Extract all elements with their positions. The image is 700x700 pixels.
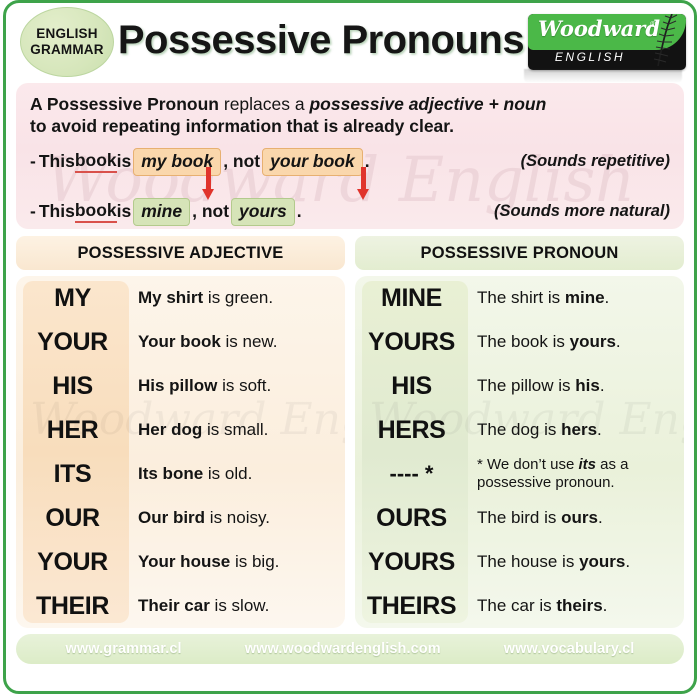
arrow-my-to-mine-icon: [202, 167, 214, 201]
fern-leaf-icon: [646, 14, 682, 68]
footer-link-vocabulary[interactable]: www.vocabulary.cl: [504, 641, 635, 657]
column-header-possessive-pronoun: POSSESSIVE PRONOUN: [355, 236, 684, 270]
column-header-possessive-adjective: POSSESSIVE ADJECTIVE: [16, 236, 345, 270]
sentence-bold: theirs: [556, 596, 602, 615]
table-row: HER Her dog is small.: [16, 408, 345, 452]
adjective-key: HER: [16, 416, 129, 445]
sentence-rest: .: [625, 552, 630, 571]
row1-dash: -: [30, 151, 36, 172]
adjective-rows: MY My shirt is green. YOUR Your book is …: [16, 276, 345, 628]
row1-underlined-noun: book: [75, 150, 117, 173]
table-row: ITS Its bone is old.: [16, 452, 345, 496]
sentence-bold: His pillow: [138, 376, 217, 395]
its-footnote: * We don’t use its as a possessive prono…: [468, 456, 684, 491]
row2-note: (Sounds more natural): [494, 202, 670, 221]
adjective-sentence: Their car is slow.: [129, 596, 345, 616]
tables-container: Woodward English MY My shirt is green. Y…: [16, 276, 684, 628]
example-row-pronoun: - This book is mine , not yours . (Sound…: [30, 198, 670, 226]
table-row: THEIRS The car is theirs.: [355, 584, 684, 628]
sentence-rest: is noisy.: [205, 508, 270, 527]
row2-between: , not: [192, 201, 229, 222]
sentence-lead: The pillow is: [477, 376, 575, 395]
row2-lead: This: [39, 201, 75, 222]
row2-chip-1: mine: [133, 198, 190, 226]
sentence-rest: .: [598, 508, 603, 527]
sentence-lead: The shirt is: [477, 288, 565, 307]
row2-chip-2: yours: [231, 198, 295, 226]
adjective-sentence: His pillow is soft.: [129, 376, 345, 396]
sentence-bold: Your book: [138, 332, 221, 351]
adjective-key: MY: [16, 284, 129, 313]
adjective-sentence: Her dog is small.: [129, 420, 345, 440]
logo-brand-text: Woodward: [538, 16, 660, 41]
sentence-rest: is small.: [202, 420, 268, 439]
table-row: YOURS The book is yours.: [355, 320, 684, 364]
footnote-its: its: [578, 456, 596, 473]
row2-dash: -: [30, 201, 36, 222]
sentence-bold: Our bird: [138, 508, 205, 527]
sentence-rest: .: [603, 596, 608, 615]
pronoun-sentence: The book is yours.: [468, 332, 684, 352]
adjective-sentence: My shirt is green.: [129, 288, 345, 308]
pronoun-sentence: The car is theirs.: [468, 596, 684, 616]
example-row-adjective: - This book is my book , not your book .…: [30, 148, 670, 176]
sentence-rest: is soft.: [217, 376, 271, 395]
pronoun-sentence: The bird is ours.: [468, 508, 684, 528]
sentence-rest: is old.: [203, 464, 252, 483]
row1-chip-2: your book: [262, 148, 363, 176]
sentence-bold: Her dog: [138, 420, 202, 439]
intro-part-a: A Possessive Pronoun: [30, 94, 219, 114]
table-row: OURS The bird is ours.: [355, 496, 684, 540]
badge-line-2: GRAMMAR: [30, 42, 103, 58]
table-row: YOUR Your book is new.: [16, 320, 345, 364]
pronoun-sentence: The shirt is mine.: [468, 288, 684, 308]
pronoun-key: OURS: [355, 504, 468, 533]
footnote-lead: * We don’t use: [477, 456, 578, 473]
intro-part-b: replaces a: [219, 94, 309, 114]
logo-sub-text: ENGLISH: [528, 50, 652, 64]
arrow-your-to-yours-icon: [357, 167, 369, 201]
sentence-lead: The book is: [477, 332, 570, 351]
intro-part-c: possessive adjective + noun: [309, 94, 546, 114]
page-title: Possessive Pronouns: [114, 18, 528, 67]
table-row: MINE The shirt is mine.: [355, 276, 684, 320]
adjective-sentence: Our bird is noisy.: [129, 508, 345, 528]
pronoun-sentence: The pillow is his.: [468, 376, 684, 396]
table-row: OUR Our bird is noisy.: [16, 496, 345, 540]
pronoun-key: YOURS: [355, 548, 468, 577]
sentence-rest: .: [597, 420, 602, 439]
sentence-bold: yours: [579, 552, 625, 571]
sentence-bold: Their car: [138, 596, 210, 615]
adjective-sentence: Your house is big.: [129, 552, 345, 572]
sentence-lead: The dog is: [477, 420, 561, 439]
adjective-key: YOUR: [16, 548, 129, 577]
adjective-sentence: Your book is new.: [129, 332, 345, 352]
sentence-bold: ours: [561, 508, 598, 527]
badge-line-1: ENGLISH: [36, 26, 97, 42]
sentence-rest: is slow.: [210, 596, 270, 615]
table-row: YOUR Your house is big.: [16, 540, 345, 584]
table-row: HIS The pillow is his.: [355, 364, 684, 408]
footer-link-woodwardenglish[interactable]: www.woodwardenglish.com: [245, 641, 441, 657]
possessive-pronoun-table: Woodward English MINE The shirt is mine.…: [355, 276, 684, 628]
sentence-bold: Your house: [138, 552, 230, 571]
pronoun-key: YOURS: [355, 328, 468, 357]
row1-lead: This: [39, 151, 75, 172]
pronoun-key: MINE: [355, 284, 468, 313]
sentence-lead: The bird is: [477, 508, 561, 527]
footer-link-grammar[interactable]: www.grammar.cl: [66, 641, 182, 657]
explanation-intro: A Possessive Pronoun replaces a possessi…: [30, 93, 670, 138]
column-headers: POSSESSIVE ADJECTIVE POSSESSIVE PRONOUN: [16, 236, 684, 270]
sentence-rest: is green.: [203, 288, 273, 307]
sentence-rest: .: [605, 288, 610, 307]
adjective-key: ITS: [16, 460, 129, 489]
sentence-bold: My shirt: [138, 288, 203, 307]
table-row-its-note: ---- * * We don’t use its as a possessiv…: [355, 452, 684, 496]
table-row: HIS His pillow is soft.: [16, 364, 345, 408]
english-grammar-badge: ENGLISH GRAMMAR: [20, 7, 114, 77]
row1-mid: is: [117, 151, 132, 172]
explanation-panel: Woodward English A Possessive Pronoun re…: [16, 83, 684, 229]
pronoun-key: HERS: [355, 416, 468, 445]
table-row: THEIR Their car is slow.: [16, 584, 345, 628]
woodward-english-logo: Woodward ® ENGLISH: [528, 14, 686, 70]
sentence-rest: .: [600, 376, 605, 395]
pronoun-key: THEIRS: [355, 592, 468, 621]
adjective-key: THEIR: [16, 592, 129, 621]
table-row: MY My shirt is green.: [16, 276, 345, 320]
sentence-rest: is big.: [230, 552, 279, 571]
sentence-lead: The car is: [477, 596, 556, 615]
poster: ENGLISH GRAMMAR Possessive Pronouns Wood…: [3, 0, 697, 694]
row1-note: (Sounds repetitive): [521, 152, 670, 171]
table-row: HERS The dog is hers.: [355, 408, 684, 452]
row2-underlined-noun: book: [75, 200, 117, 223]
pronoun-sentence: The house is yours.: [468, 552, 684, 572]
sentence-bold: yours: [570, 332, 616, 351]
sentence-rest: .: [616, 332, 621, 351]
row2-mid: is: [117, 201, 132, 222]
adjective-key: HIS: [16, 372, 129, 401]
pronoun-sentence: The dog is hers.: [468, 420, 684, 440]
row2-end: .: [297, 201, 302, 222]
pronoun-key-none: ---- *: [355, 461, 468, 487]
pronoun-key: HIS: [355, 372, 468, 401]
sentence-lead: The house is: [477, 552, 579, 571]
possessive-adjective-table: Woodward English MY My shirt is green. Y…: [16, 276, 345, 628]
sentence-bold: Its bone: [138, 464, 203, 483]
sentence-bold: mine: [565, 288, 605, 307]
sentence-rest: is new.: [221, 332, 278, 351]
logo-reflection: [524, 69, 682, 83]
intro-part-d: to avoid repeating information that is a…: [30, 116, 454, 136]
table-row: YOURS The house is yours.: [355, 540, 684, 584]
pronoun-rows: MINE The shirt is mine. YOURS The book i…: [355, 276, 684, 628]
sentence-bold: his: [575, 376, 600, 395]
adjective-sentence: Its bone is old.: [129, 464, 345, 484]
adjective-key: OUR: [16, 504, 129, 533]
sentence-bold: hers: [561, 420, 597, 439]
row1-between: , not: [223, 151, 260, 172]
footer: www.grammar.cl www.woodwardenglish.com w…: [16, 634, 684, 664]
adjective-key: YOUR: [16, 328, 129, 357]
